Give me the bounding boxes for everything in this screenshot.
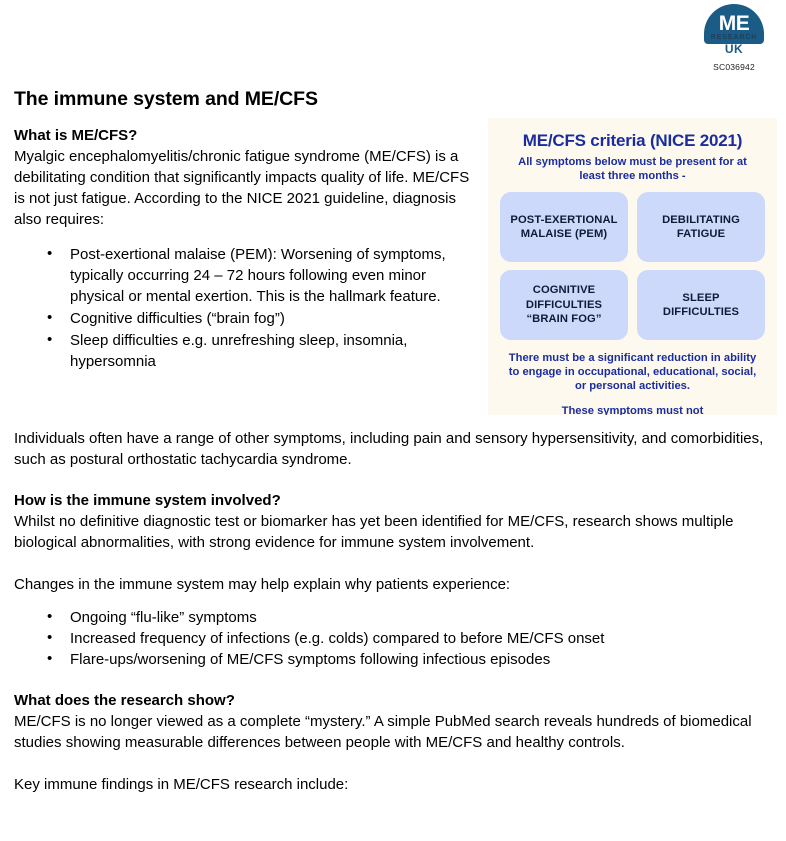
infographic-footer-reduction: There must be a significant reduction in… bbox=[502, 351, 763, 393]
paragraph-what-is-mecfs: Myalgic encephalomyelitis/chronic fatigu… bbox=[14, 146, 476, 230]
list-item: Ongoing “flu-like” symptoms bbox=[47, 607, 774, 628]
spacer bbox=[14, 470, 774, 491]
infographic-footer-exclusion: These symptoms must not be explained by … bbox=[502, 404, 763, 415]
infographic-title: ME/CFS criteria (NICE 2021) bbox=[500, 131, 765, 151]
list-item: Increased frequency of infections (e.g. … bbox=[47, 628, 774, 649]
me-research-uk-logo: ME RESEARCH UK SC036942 bbox=[696, 4, 772, 72]
logo-uk-text: UK bbox=[704, 42, 764, 56]
charity-number: SC036942 bbox=[696, 62, 772, 72]
spacer bbox=[14, 753, 774, 774]
heading-immune-involved: How is the immune system involved? bbox=[14, 491, 774, 511]
logo-me-text: ME bbox=[704, 12, 764, 36]
list-item: Flare-ups/worsening of ME/CFS symptoms f… bbox=[47, 649, 774, 670]
symptom-box-cognitive: COGNITIVE DIFFICULTIES “BRAIN FOG” bbox=[500, 270, 628, 340]
heading-research-show: What does the research show? bbox=[14, 691, 774, 711]
paragraph-key-findings-lead-in: Key immune findings in ME/CFS research i… bbox=[14, 774, 774, 795]
paragraph-other-symptoms: Individuals often have a range of other … bbox=[14, 428, 774, 470]
infographic-symptom-grid: POST-EXERTIONAL MALAISE (PEM) DEBILITATI… bbox=[500, 192, 765, 340]
symptom-box-sleep: SLEEP DIFFICULTIES bbox=[637, 270, 765, 340]
spacer bbox=[14, 670, 774, 691]
logo-research-text: RESEARCH bbox=[704, 34, 764, 41]
paragraph-immune-changes-lead-in: Changes in the immune system may help ex… bbox=[14, 574, 774, 595]
spacer bbox=[14, 553, 774, 574]
symptom-box-pem: POST-EXERTIONAL MALAISE (PEM) bbox=[500, 192, 628, 262]
list-item: Post-exertional malaise (PEM): Worsening… bbox=[47, 244, 476, 307]
paragraph-immune-involved: Whilst no definitive diagnostic test or … bbox=[14, 511, 774, 553]
left-column: What is ME/CFS? Myalgic encephalomyeliti… bbox=[14, 126, 476, 373]
symptom-box-fatigue: DEBILITATING FATIGUE bbox=[637, 192, 765, 262]
nice-criteria-infographic: ME/CFS criteria (NICE 2021) All symptoms… bbox=[488, 118, 777, 415]
page-title: The immune system and ME/CFS bbox=[14, 88, 318, 111]
list-immune-experiences: Ongoing “flu-like” symptoms Increased fr… bbox=[14, 607, 774, 670]
list-nice-criteria: Post-exertional malaise (PEM): Worsening… bbox=[14, 244, 476, 372]
lower-content: Individuals often have a range of other … bbox=[14, 428, 774, 795]
list-item: Sleep difficulties e.g. unrefreshing sle… bbox=[47, 330, 476, 372]
paragraph-research-show: ME/CFS is no longer viewed as a complete… bbox=[14, 711, 774, 753]
heading-what-is-mecfs: What is ME/CFS? bbox=[14, 126, 476, 146]
logo-mark: ME RESEARCH UK bbox=[704, 4, 764, 56]
infographic-subtitle: All symptoms below must be present for a… bbox=[504, 155, 761, 183]
list-item: Cognitive difficulties (“brain fog”) bbox=[47, 308, 476, 329]
